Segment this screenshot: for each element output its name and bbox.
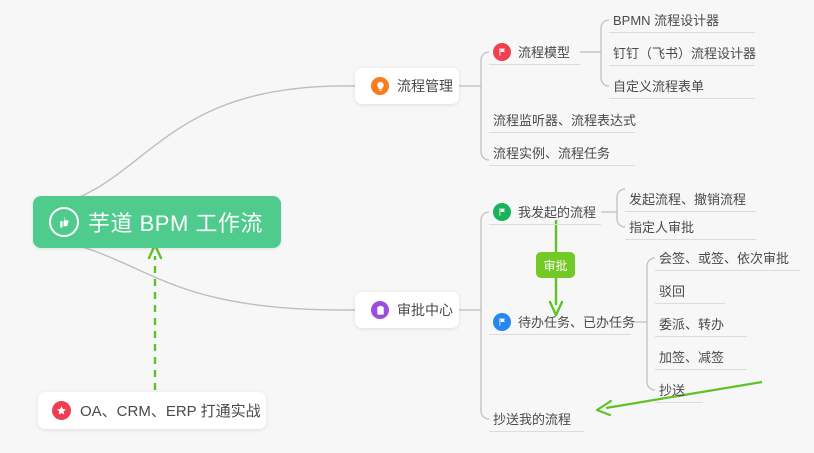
edge-root-to-process-management bbox=[33, 86, 355, 210]
node-process-listener[interactable]: 流程监听器、流程表达式 bbox=[489, 107, 635, 133]
bracket-process-model-children bbox=[601, 20, 609, 86]
root-node[interactable]: 芋道 BPM 工作流 bbox=[33, 196, 281, 248]
node-dingtalk-designer[interactable]: 钉钉（飞书）流程设计器 bbox=[609, 40, 755, 66]
node-cc-to-me-process-label: 抄送我的流程 bbox=[493, 409, 571, 428]
node-approval-center[interactable]: 审批中心 bbox=[355, 292, 459, 328]
flag-icon bbox=[493, 43, 511, 61]
node-todo-done-tasks[interactable]: 待办任务、已办任务 bbox=[489, 309, 631, 335]
node-todo-done-tasks-label: 待办任务、已办任务 bbox=[518, 312, 635, 331]
node-delegate-transfer-label: 委派、转办 bbox=[659, 314, 724, 333]
flag-icon bbox=[493, 203, 511, 221]
node-bpmn-designer-label: BPMN 流程设计器 bbox=[613, 10, 719, 29]
document-icon bbox=[371, 301, 389, 319]
node-add-remove-sign[interactable]: 加签、减签 bbox=[655, 344, 747, 370]
star-icon bbox=[52, 401, 71, 420]
node-bpmn-designer[interactable]: BPMN 流程设计器 bbox=[609, 7, 755, 33]
node-process-instance-label: 流程实例、流程任务 bbox=[493, 143, 610, 162]
node-my-started-process[interactable]: 我发起的流程 bbox=[489, 199, 601, 225]
node-countersign-approval-label: 会签、或签、依次审批 bbox=[659, 248, 789, 267]
node-start-cancel-process[interactable]: 发起流程、撤销流程 bbox=[625, 186, 756, 212]
node-process-management[interactable]: 流程管理 bbox=[355, 68, 459, 104]
annotation-chip-approve-label: 审批 bbox=[543, 257, 567, 274]
bracket-my-started-children bbox=[617, 189, 625, 227]
node-approval-center-label: 审批中心 bbox=[397, 300, 453, 320]
annotation-chip-approve: 审批 bbox=[536, 252, 575, 278]
node-add-remove-sign-label: 加签、减签 bbox=[659, 347, 724, 366]
node-process-listener-label: 流程监听器、流程表达式 bbox=[493, 110, 636, 129]
node-reject-label: 驳回 bbox=[659, 281, 685, 300]
lightbulb-icon bbox=[371, 77, 389, 95]
node-custom-form[interactable]: 自定义流程表单 bbox=[609, 73, 755, 99]
node-assignee-approval-label: 指定人审批 bbox=[629, 217, 694, 236]
node-oa-crm-erp-integration[interactable]: OA、CRM、ERP 打通实战 bbox=[38, 392, 266, 429]
node-countersign-approval[interactable]: 会签、或签、依次审批 bbox=[655, 245, 800, 271]
bracket-todo-tasks-children bbox=[647, 258, 655, 390]
node-process-model-label: 流程模型 bbox=[518, 42, 570, 61]
node-oa-crm-erp-integration-label: OA、CRM、ERP 打通实战 bbox=[80, 400, 261, 421]
bracket-approval-center-children bbox=[481, 212, 489, 419]
node-assignee-approval[interactable]: 指定人审批 bbox=[625, 214, 756, 240]
node-cc-to-me-process[interactable]: 抄送我的流程 bbox=[489, 406, 584, 432]
node-delegate-transfer[interactable]: 委派、转办 bbox=[655, 311, 747, 337]
node-process-instance[interactable]: 流程实例、流程任务 bbox=[489, 140, 635, 166]
node-reject[interactable]: 驳回 bbox=[655, 278, 725, 304]
node-process-model[interactable]: 流程模型 bbox=[489, 39, 580, 65]
bracket-process-management-children bbox=[481, 52, 489, 160]
cc-annotation-arrowhead bbox=[597, 401, 611, 415]
node-my-started-process-label: 我发起的流程 bbox=[518, 202, 596, 221]
node-cc[interactable]: 抄送 bbox=[655, 377, 703, 403]
thumbs-up-icon bbox=[49, 207, 79, 237]
node-cc-label: 抄送 bbox=[659, 380, 685, 399]
node-start-cancel-process-label: 发起流程、撤销流程 bbox=[629, 189, 746, 208]
root-node-label: 芋道 BPM 工作流 bbox=[88, 206, 263, 238]
node-custom-form-label: 自定义流程表单 bbox=[613, 76, 704, 95]
flag-icon bbox=[493, 313, 511, 331]
mindmap-canvas: 芋道 BPM 工作流 流程管理 审批中心 流程模型 BPMN 流程设计器 钉钉（ bbox=[0, 0, 814, 453]
node-process-management-label: 流程管理 bbox=[397, 76, 453, 96]
node-dingtalk-designer-label: 钉钉（飞书）流程设计器 bbox=[613, 43, 756, 62]
